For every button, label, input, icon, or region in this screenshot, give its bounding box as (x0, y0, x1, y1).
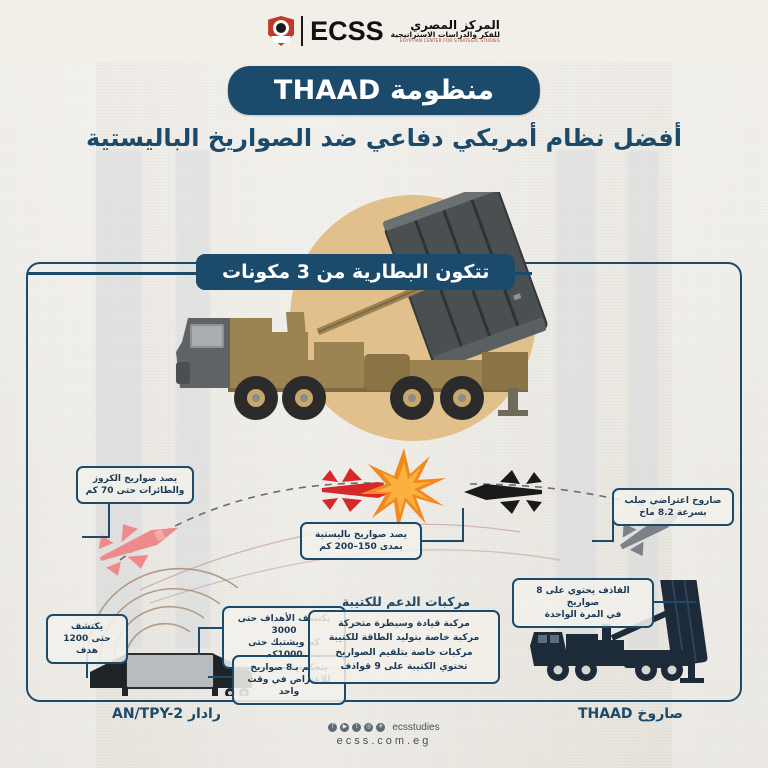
social-links[interactable]: f ▶ t ◎ ✈ ecsstudies (0, 722, 768, 733)
website-url[interactable]: ecss.com.eg (0, 735, 768, 747)
thaad-launcher-truck-illustration (168, 192, 588, 444)
caption-missile: صاروخ THAAD (578, 706, 683, 722)
logo-acronym: ECSS (310, 16, 384, 47)
callout-cruise-line1: يصد صواريخ الكروز (85, 473, 185, 485)
twitter-icon[interactable]: t (352, 723, 361, 732)
logo-arabic-name: المركز المصري للفكر والدراسات الاستراتيج… (391, 19, 500, 44)
callout-radar-targets-line1: يكتشف (55, 621, 119, 633)
callout-launcher-line2: في المرة الواحدة (521, 609, 645, 621)
callout-launcher-lead-h (654, 601, 696, 603)
callout-radar-targets-line2: حتى 1200 هدف (55, 633, 119, 657)
support-item: مركبة قيادة وسيطرة متحركة (316, 617, 492, 631)
callout-radar-range-lead-v (198, 627, 200, 655)
callout-ballistic-lead-v (462, 508, 464, 542)
callout-launcher-capacity: القاذف يحتوي على 8 صواريخ في المرة الواح… (512, 578, 654, 628)
callout-cruise-line2: والطائرات حتى 70 كم (85, 485, 185, 497)
callout-launcher-line1: القاذف يحتوي على 8 صواريخ (521, 585, 645, 609)
support-vehicles-box: مركبة قيادة وسيطرة متحركة مركبة خاصة بتو… (308, 610, 500, 684)
footer: f ▶ t ◎ ✈ ecsstudies ecss.com.eg (0, 722, 768, 747)
telegram-icon[interactable]: ✈ (376, 723, 385, 732)
callout-interceptor-line1: صاروخ اعتراضي صلب (621, 495, 725, 507)
page-title: منظومة THAAD (228, 66, 540, 115)
facebook-icon[interactable]: f (328, 723, 337, 732)
ecss-logo[interactable]: ECSS المركز المصري للفكر والدراسات الاست… (268, 16, 500, 47)
logo-divider (301, 16, 303, 46)
support-item: مركبة خاصة بتوليد الطاقة للكتيبة (316, 631, 492, 645)
logo-arabic-line3: EGYPTIAN CENTER FOR STRATEGIC STUDIES (391, 39, 500, 43)
callout-ballistic-line2: بمدى 150–200 كم (309, 541, 413, 553)
support-item: مركبات خاصة بتلقيم الصواريخ (316, 646, 492, 660)
header-bar: ECSS المركز المصري للفكر والدراسات الاست… (0, 0, 768, 62)
thaad-interceptor-graphic (464, 470, 542, 514)
callout-interceptor-line2: بسرعة 8.2 ماخ (621, 507, 725, 519)
callout-ballistic-lead-h (420, 540, 464, 542)
callout-cruise-lead-h (82, 536, 110, 538)
callout-cruise-lead-v (108, 502, 110, 538)
social-handle: ecsstudies (392, 722, 439, 733)
callout-radar-targets: يكتشف حتى 1200 هدف (46, 614, 128, 664)
callout-radar-range-lead-h (198, 627, 224, 629)
banner-lead-left (28, 272, 198, 275)
callout-cruise-range: يصد صواريخ الكروز والطائرات حتى 70 كم (76, 466, 194, 504)
callout-interceptor-lead-h (592, 540, 614, 542)
callout-interceptor-speed: صاروخ اعتراضي صلب بسرعة 8.2 ماخ (612, 488, 734, 526)
callout-radar-control-lead-h (208, 676, 234, 678)
youtube-icon[interactable]: ▶ (340, 723, 349, 732)
support-vehicles-title: مركبات الدعم للكتيبة (316, 594, 496, 609)
callout-ballistic-line1: يصد صواريخ باليستية (309, 529, 413, 541)
support-item: تحتوي الكتيبة على 9 قواذف (316, 660, 492, 674)
shield-globe-book-icon (268, 16, 294, 46)
page-subtitle: أفضل نظام أمريكي دفاعي ضد الصواريخ البال… (86, 124, 682, 152)
instagram-icon[interactable]: ◎ (364, 723, 373, 732)
battery-components-banner: تتكون البطارية من 3 مكونات (196, 254, 515, 290)
callout-ballistic-range: يصد صواريخ باليستية بمدى 150–200 كم (300, 522, 422, 560)
caption-radar: رادار AN/TPY-2 (112, 706, 221, 722)
